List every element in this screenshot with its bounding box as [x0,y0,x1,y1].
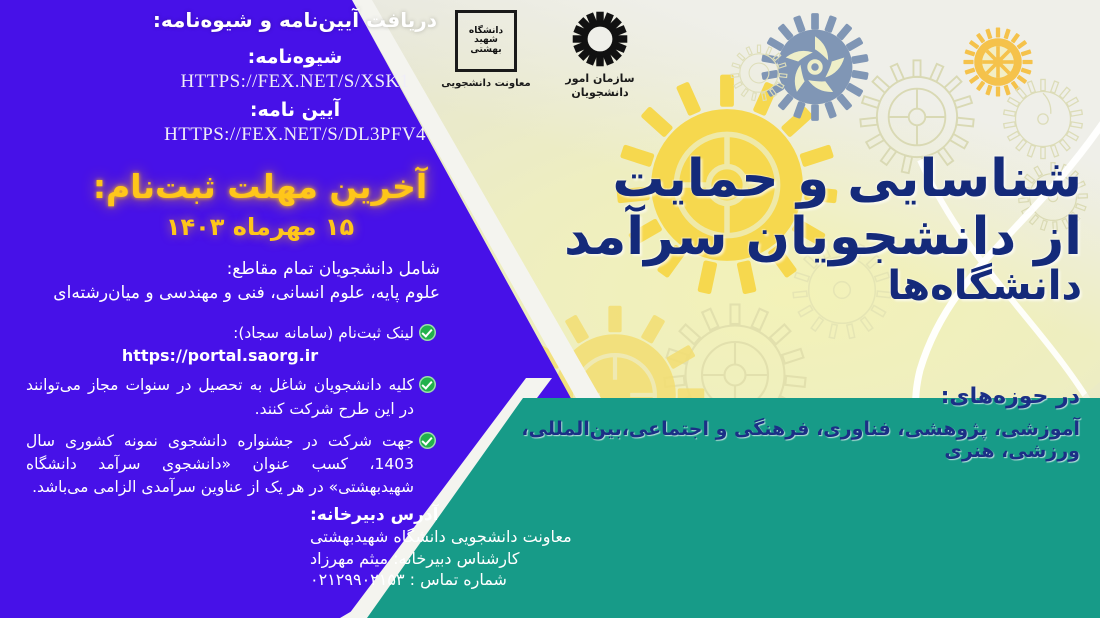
regulation-url-link[interactable]: HTTPS://FEX.NET/S/DL3PFV4 [130,121,460,149]
fields-list: آموزشی، پژوهشی، فناوری، فرهنگی و اجتماعی… [450,418,1080,462]
secretariat-line-1: معاونت دانشجویی دانشگاه شهیدبهشتی [310,526,640,548]
sao-starburst-icon [569,8,631,70]
downloads-heading: دریافت آیین‌نامه و شیوه‌نامه: [130,6,460,35]
bullet-text: جهت شرکت در جشنواره دانشجوی نمونه کشوری … [26,430,414,500]
title-line-3: دانشگاه‌ها [562,264,1082,309]
registration-link[interactable]: https://portal.saorg.ir [26,346,414,365]
bullet-text: لینک ثبت‌نام (سامانه سجاد): [26,322,414,345]
poster-title: شناسایی و حمایت از دانشجویان سرآمد دانشگ… [562,150,1082,309]
fields-label: در حوزه‌های: [560,384,1080,409]
bullet-list: لینک ثبت‌نام (سامانه سجاد): https://port… [26,322,436,509]
deadline-date: ۱۵ مهرماه ۱۴۰۳ [65,210,455,245]
deadline-heading: آخرین مهلت ثبت‌نام: [65,163,455,211]
method-url-link[interactable]: HTTPS://FEX.NET/S/XSK1 [130,68,460,96]
secretariat-line-2: کارشناس دبیرخانه: میثم مهرزاد [310,548,640,570]
eligibility-line-1: شامل دانشجویان تمام مقاطع: [40,257,440,282]
title-line-2: از دانشجویان سرآمد [562,208,1082,266]
secretariat-title: آدرس دبیرخانه: [310,505,640,525]
sbu-logo-mark: دانشگاه شهید بهشتی [455,10,517,72]
bullet-text: کلیه دانشجویان شاغل به تحصیل در سنوات مج… [26,374,414,421]
check-circle-icon [419,376,436,393]
eligibility-line-2: علوم پایه، علوم انسانی، فنی و مهندسی و م… [40,281,440,306]
secretariat-phone: شماره تماس : ۰۲۱۲۹۹۰۲۱۵۳ [310,569,640,591]
poster-canvas: دانشگاه شهید بهشتی معاونت دانشجویی [0,0,1100,618]
title-line-1: شناسایی و حمایت [562,150,1082,208]
check-circle-icon [419,324,436,341]
secretariat-block: آدرس دبیرخانه: معاونت دانشجویی دانشگاه ش… [310,505,640,591]
list-item: کلیه دانشجویان شاغل به تحصیل در سنوات مج… [26,374,436,421]
check-circle-icon [419,432,436,449]
gear-icon-outline-small-left [728,42,790,104]
list-item: لینک ثبت‌نام (سامانه سجاد): https://port… [26,322,436,365]
list-item: جهت شرکت در جشنواره دانشجوی نمونه کشوری … [26,430,436,500]
student-affairs-organization-logo: سازمان امور دانشجویان [540,8,660,100]
sao-logo-caption: سازمان امور دانشجویان [540,72,660,100]
logo-group: دانشگاه شهید بهشتی معاونت دانشجویی [436,6,666,116]
